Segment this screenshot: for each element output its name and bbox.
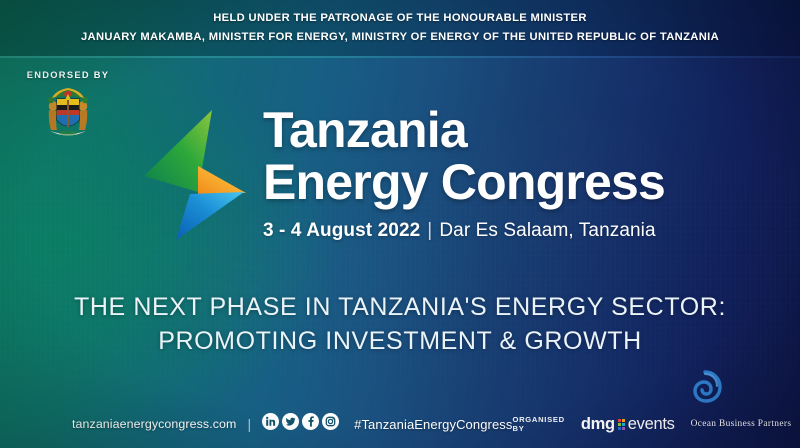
tagline-line-2: PROMOTING INVESTMENT & GROWTH bbox=[0, 324, 800, 358]
ocean-business-partners-logo[interactable]: Ocean Business Partners bbox=[691, 418, 792, 429]
dmg-wordmark: dmg bbox=[581, 415, 615, 434]
title-line-2: Energy Congress bbox=[263, 156, 783, 208]
social-links bbox=[262, 413, 339, 435]
twitter-icon[interactable] bbox=[282, 413, 299, 435]
footer-left-group: tanzaniaenergycongress.com | bbox=[72, 413, 513, 435]
title-line-1: Tanzania bbox=[263, 102, 467, 158]
website-link[interactable]: tanzaniaenergycongress.com bbox=[72, 417, 236, 431]
organised-by-label: ORGANISED BY bbox=[513, 415, 565, 433]
footer-right-group: ORGANISED BY dmg events Ocean Business P… bbox=[513, 415, 792, 434]
instagram-icon[interactable] bbox=[322, 413, 339, 435]
tagline-line-1: THE NEXT PHASE IN TANZANIA'S ENERGY SECT… bbox=[74, 293, 726, 321]
event-date: 3 - 4 August 2022 bbox=[263, 220, 420, 241]
event-location: Dar Es Salaam, Tanzania bbox=[439, 220, 655, 241]
event-banner: HELD UNDER THE PATRONAGE OF THE HONOURAB… bbox=[0, 0, 800, 448]
ocean-swirl-icon bbox=[688, 370, 722, 404]
tanzania-coat-of-arms-icon bbox=[42, 86, 94, 142]
footer-bar: tanzaniaenergycongress.com | bbox=[0, 400, 800, 448]
events-wordmark: events bbox=[628, 415, 675, 434]
ocean-business-partners-name: Ocean Business Partners bbox=[691, 419, 792, 429]
linkedin-icon[interactable] bbox=[262, 413, 279, 435]
endorsement-block: ENDORSED BY bbox=[18, 70, 118, 142]
event-hashtag[interactable]: #TanzaniaEnergyCongress bbox=[354, 417, 512, 432]
dmg-dot-grid-icon bbox=[618, 419, 625, 430]
title-block: Tanzania Energy Congress 3 - 4 August 20… bbox=[263, 104, 783, 242]
dmg-events-logo[interactable]: dmg events bbox=[581, 415, 675, 434]
event-details: 3 - 4 August 2022|Dar Es Salaam, Tanzani… bbox=[263, 220, 783, 242]
event-tagline: THE NEXT PHASE IN TANZANIA'S ENERGY SECT… bbox=[0, 290, 800, 358]
patronage-header: HELD UNDER THE PATRONAGE OF THE HONOURAB… bbox=[0, 0, 800, 58]
patronage-line-1: HELD UNDER THE PATRONAGE OF THE HONOURAB… bbox=[0, 9, 800, 28]
page-title: Tanzania Energy Congress bbox=[263, 104, 783, 208]
congress-logo-mark bbox=[128, 96, 276, 246]
patronage-line-2: JANUARY MAKAMBA, MINISTER FOR ENERGY, MI… bbox=[0, 28, 800, 47]
facebook-icon[interactable] bbox=[302, 413, 319, 435]
endorsed-by-label: ENDORSED BY bbox=[18, 70, 118, 80]
detail-separator: | bbox=[420, 220, 439, 242]
footer-separator: | bbox=[245, 416, 253, 432]
